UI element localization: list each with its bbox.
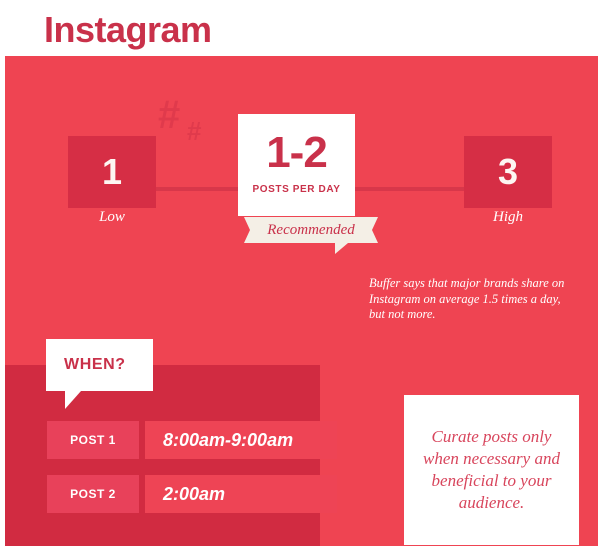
hashtag-large-icon: # <box>158 95 180 135</box>
curate-tip-card: Curate posts only when necessary and ben… <box>404 395 579 545</box>
recommended-frequency-card: 1-2 POSTS PER DAY <box>238 114 355 216</box>
frequency-low-label: Low <box>68 209 156 226</box>
ribbon-tail <box>335 243 348 254</box>
hashtag-small-icon: # <box>187 118 201 144</box>
recommended-value: 1-2 <box>238 128 355 178</box>
post-row-time: 2:00am <box>145 475 337 513</box>
when-heading-label: WHEN? <box>64 356 126 374</box>
infographic-canvas: # # 1 Low 3 High 1-2 POSTS PER DAY Recom… <box>5 56 598 546</box>
post-row-label: POST 1 <box>47 421 139 459</box>
frequency-high-label: High <box>464 209 552 226</box>
post-schedule-row: POST 1 8:00am-9:00am <box>47 421 337 459</box>
recommended-badge-label: Recommended <box>267 223 354 238</box>
post-row-time: 8:00am-9:00am <box>145 421 337 459</box>
frequency-high-box: 3 <box>464 136 552 208</box>
when-heading-bubble: WHEN? <box>46 339 153 391</box>
frequency-low-box: 1 <box>68 136 156 208</box>
buffer-source-note: Buffer says that major brands share on I… <box>369 276 574 323</box>
post-row-label: POST 2 <box>47 475 139 513</box>
recommended-badge: Recommended <box>244 217 378 243</box>
page-title: Instagram <box>44 8 212 52</box>
post-schedule-row: POST 2 2:00am <box>47 475 337 513</box>
when-bubble-tail <box>65 391 81 409</box>
curate-tip-text: Curate posts only when necessary and ben… <box>418 426 565 514</box>
frequency-low-value: 1 <box>102 154 122 190</box>
recommended-unit-label: POSTS PER DAY <box>238 184 355 195</box>
frequency-high-value: 3 <box>498 154 518 190</box>
